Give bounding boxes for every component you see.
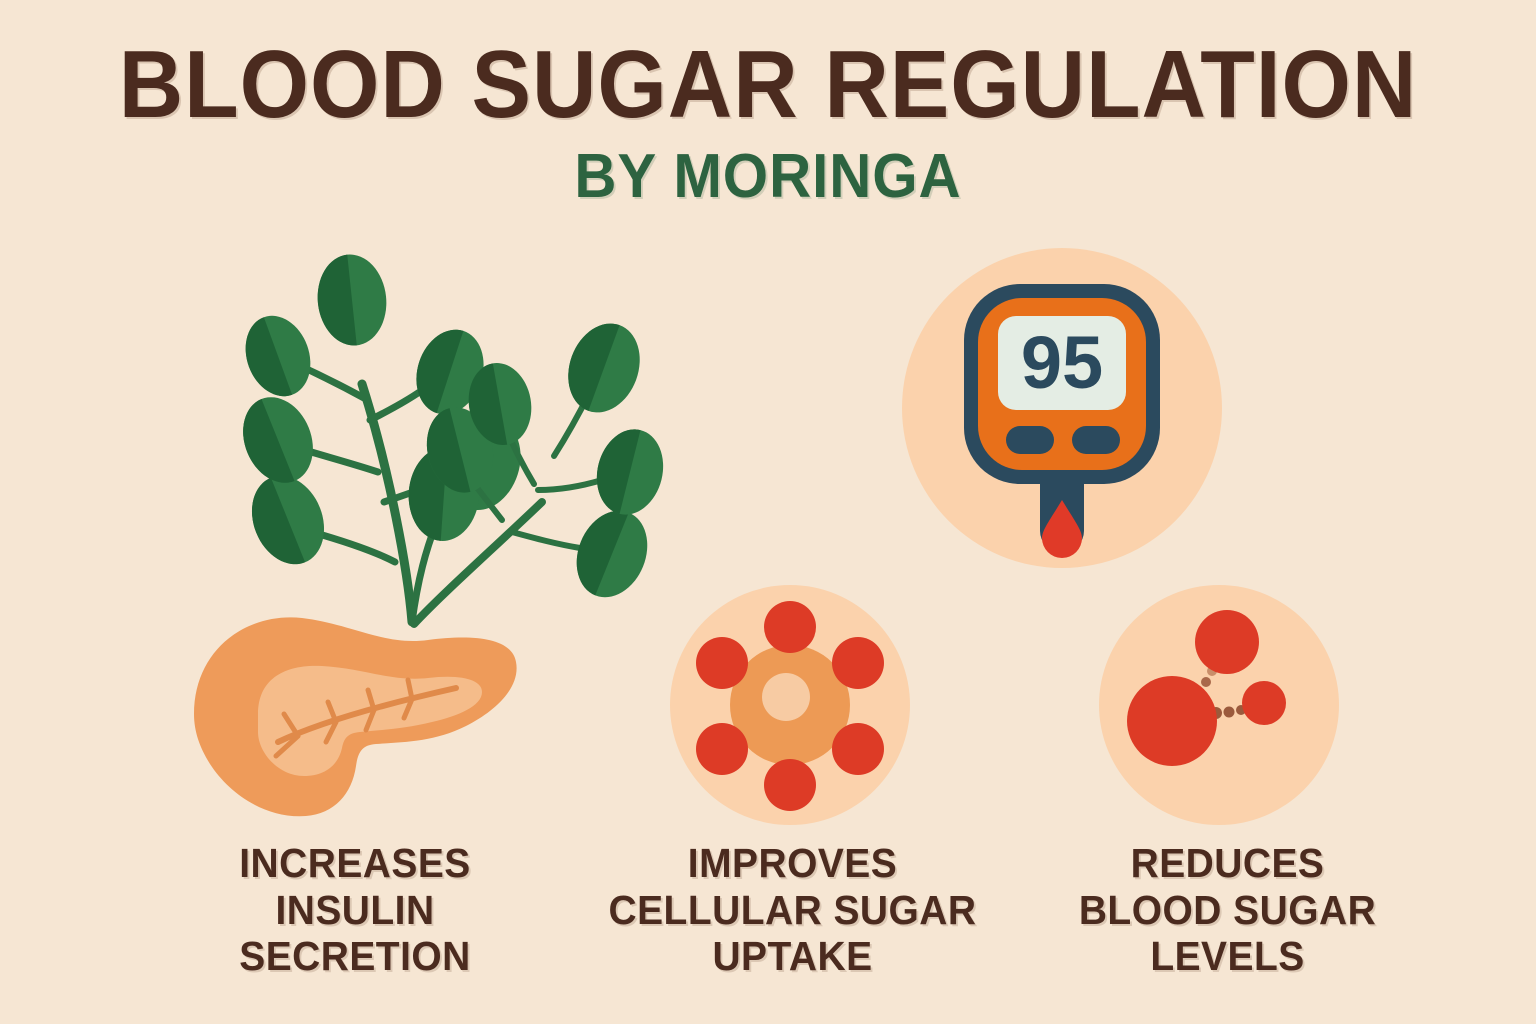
- moringa-leaf-icon: [212, 172, 682, 632]
- caption-line: Levels: [1030, 933, 1424, 980]
- benefit-caption-improves-cellular-sugar-uptake: Improves Cellular Sugar Uptake: [595, 840, 989, 980]
- page-title: Blood Sugar Regulation: [54, 38, 1482, 132]
- caption-line: Uptake: [595, 933, 989, 980]
- infographic-poster: Blood Sugar Regulation by Moringa: [0, 0, 1536, 1024]
- caption-line: Cellular Sugar: [595, 887, 989, 934]
- cellular-uptake-icon: [670, 585, 910, 825]
- caption-line: Increases: [160, 840, 550, 887]
- caption-line: Improves: [595, 840, 989, 887]
- pancreas-icon: [176, 602, 532, 834]
- benefit-caption-reduces-blood-sugar-levels: Reduces Blood Sugar Levels: [1030, 840, 1424, 980]
- benefit-caption-increases-insulin-secretion: Increases Insulin Secretion: [160, 840, 550, 980]
- caption-line: Blood Sugar: [1030, 887, 1424, 934]
- glucose-reading: 95: [1021, 321, 1103, 404]
- glucose-meter-icon: 95: [902, 248, 1222, 568]
- caption-line: Insulin: [160, 887, 550, 934]
- reduces-sugar-icon: [1099, 585, 1339, 825]
- caption-line: Secretion: [160, 933, 550, 980]
- caption-line: Reduces: [1030, 840, 1424, 887]
